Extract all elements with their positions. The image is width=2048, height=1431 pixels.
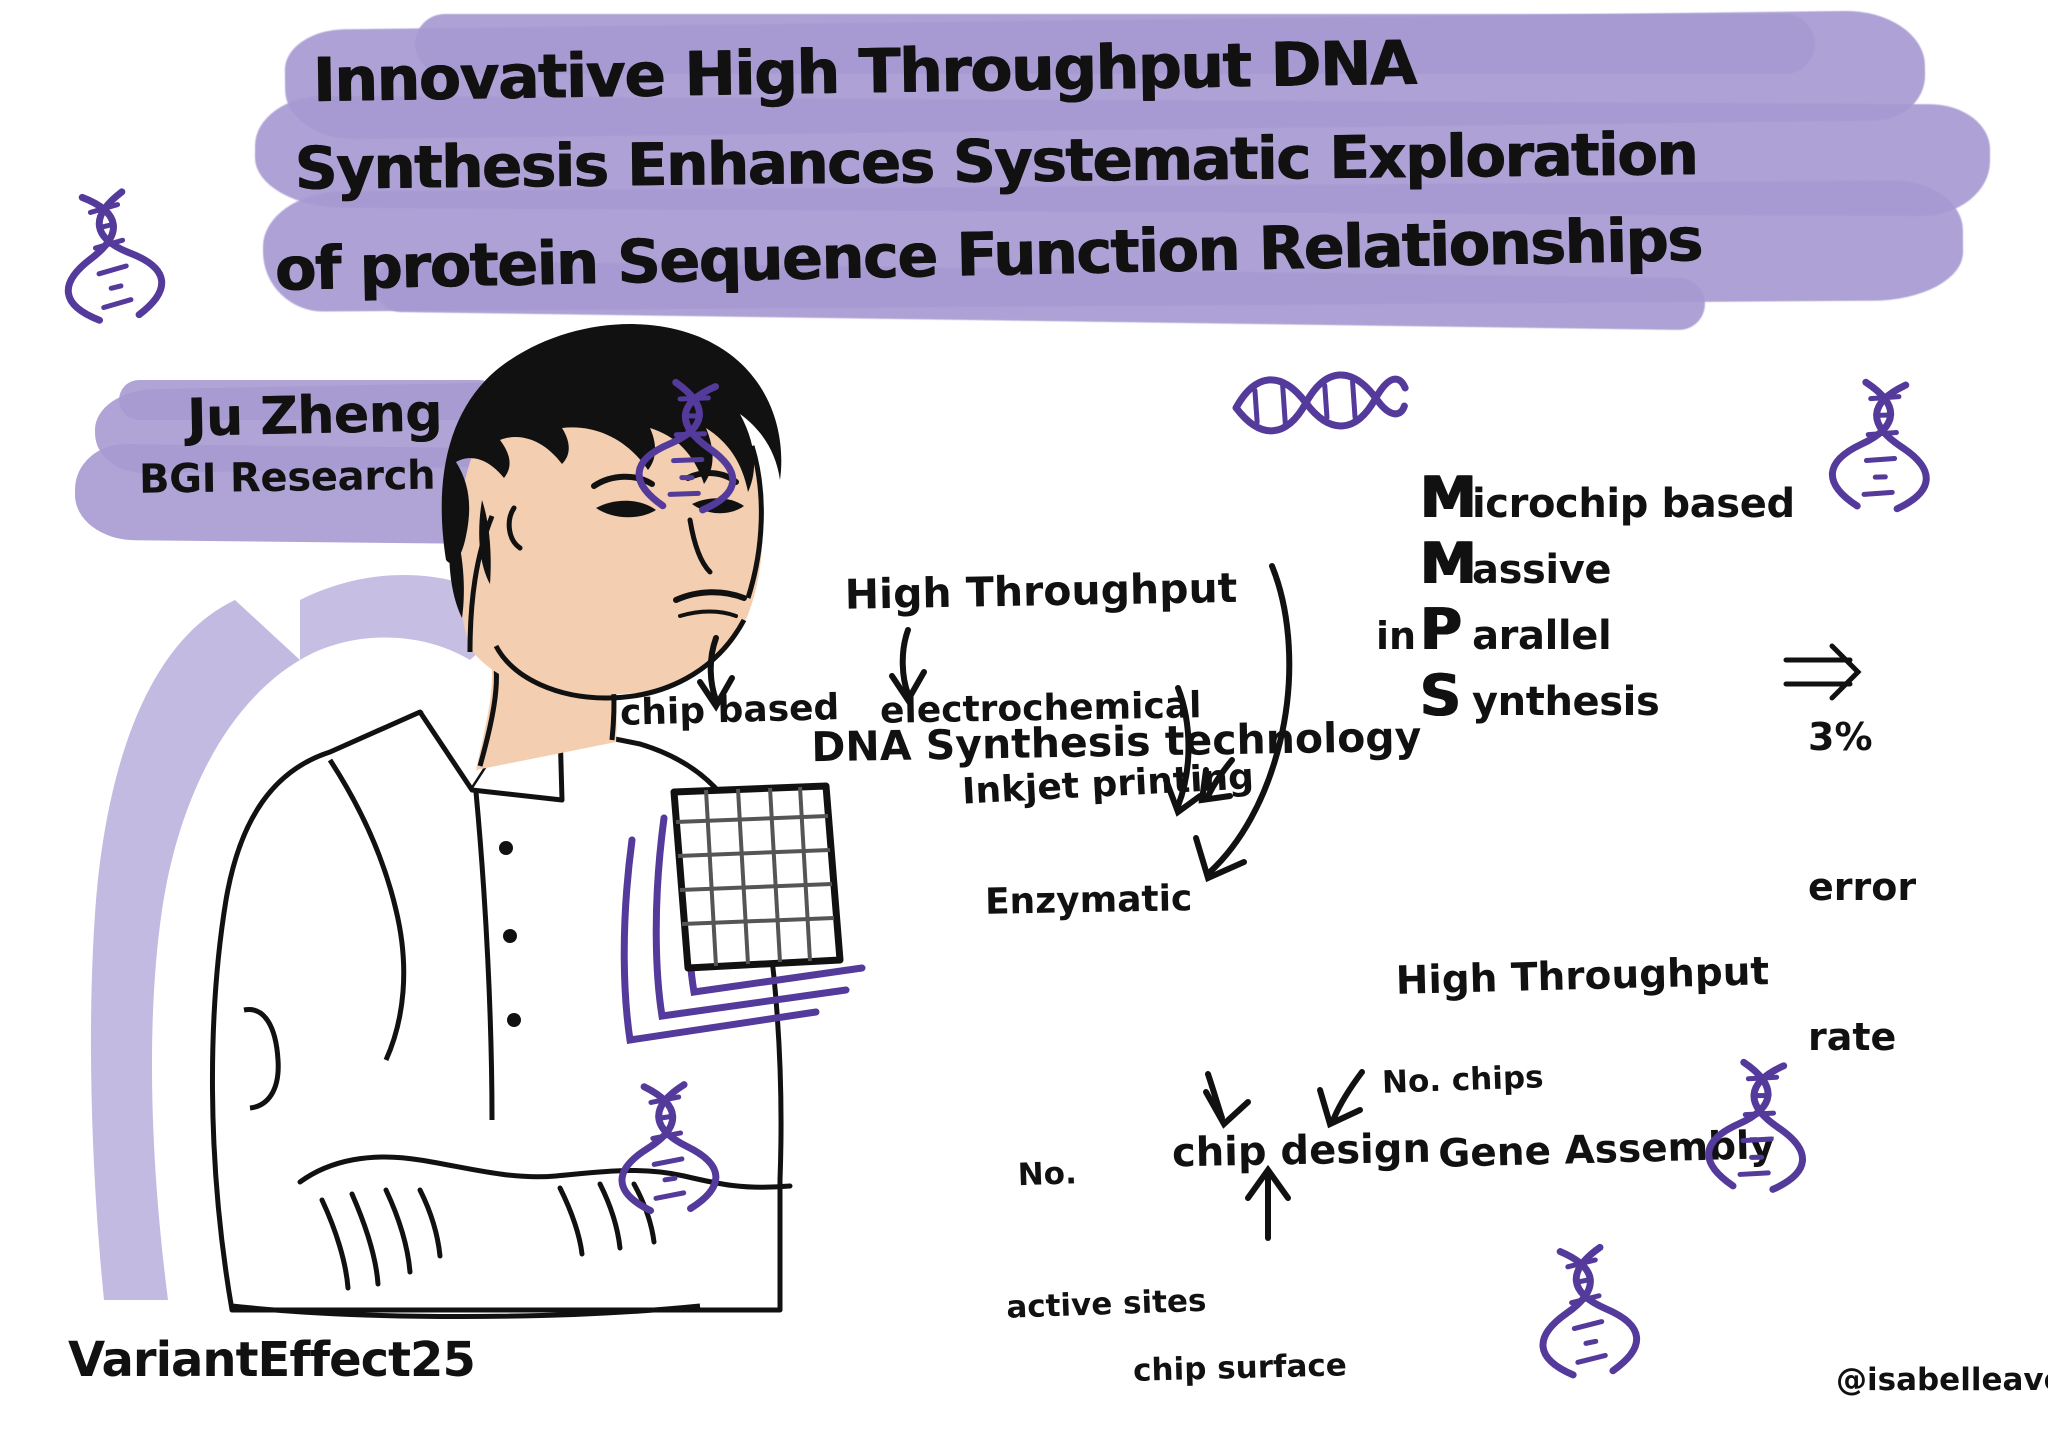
portrait-nose	[690, 520, 710, 572]
author-name: Ju Zheng	[186, 378, 537, 451]
mmps-text-parallel: arallel	[1472, 606, 1611, 666]
dna-helix-center-left	[636, 380, 742, 513]
mmps-capital-m2: M	[1420, 534, 1472, 594]
chip-design-input-no-chips: No. chips	[1381, 1059, 1544, 1101]
error-rate-value: 3%	[1808, 712, 1916, 762]
title-banner: Innovative High Throughput DNA Synthesis…	[255, 14, 2020, 319]
gene-assembly-line-2: Gene Assembly	[1438, 1117, 1776, 1184]
dna-helix-top-right	[1830, 380, 1932, 510]
error-rate-word-rate: rate	[1808, 1012, 1916, 1062]
dna-helix-top-left	[56, 188, 166, 324]
mmps-acronym-list: M icrochip based M assive in P arallel S…	[1420, 468, 1795, 732]
chip-design-input-surface-chemistry: chip surface chemistry	[1130, 1245, 1357, 1431]
mmps-text-synthesis: ynthesis	[1472, 672, 1659, 732]
portrait-shirt	[212, 712, 781, 1310]
portrait-jawline	[496, 620, 744, 698]
portrait-brow-right	[688, 473, 736, 482]
shirt-button-3	[507, 1013, 521, 1027]
mmps-row-parallel: in P arallel	[1376, 600, 1795, 666]
author-banner: Ju Zheng BGI Research	[75, 380, 545, 555]
surface-chemistry-line-1: chip surface	[1133, 1341, 1351, 1395]
page-title: Innovative High Throughput DNA Synthesis…	[295, 22, 1995, 298]
mmps-capital-s: S	[1420, 666, 1472, 726]
mmps-capital-m1: M	[1420, 468, 1472, 528]
author-affiliation: BGI Research	[139, 445, 538, 509]
branch-label-enzymatic: Enzymatic	[985, 878, 1193, 923]
arrow-no-chips-to-chip-design	[1334, 1072, 1362, 1118]
branch-label-electrochemical: electrochemical	[880, 685, 1202, 732]
gene-assembly-line-1: High Throughput	[1395, 943, 1771, 1011]
sketchnote-canvas: Innovative High Throughput DNA Synthesis…	[0, 0, 2048, 1431]
portrait-shadow	[91, 600, 300, 1300]
dna-helix-bottom-left	[617, 1083, 717, 1212]
mmps-text-massive: assive	[1472, 540, 1611, 600]
portrait-brow-left	[594, 477, 652, 486]
shirt-button-2	[503, 929, 517, 943]
branch-label-chip-based: chip based	[620, 687, 840, 734]
mmps-row-synthesis: S ynthesis	[1420, 666, 1795, 732]
portrait-eye-left	[596, 501, 656, 518]
error-rate-word-error: error	[1808, 862, 1916, 912]
mmps-text-microchip: icrochip based	[1472, 474, 1795, 534]
chip-grid-lines	[676, 787, 834, 966]
chip-layer-back-1	[624, 840, 816, 1040]
error-rate-annotation: 3% error rate	[1808, 612, 1916, 1162]
mmps-row-massive: M assive	[1420, 534, 1795, 600]
branch-root-line-1: High Throughput	[844, 561, 1419, 619]
author-block: Ju Zheng BGI Research	[117, 382, 537, 506]
portrait-neck	[476, 636, 617, 770]
mmps-prefix-in: in	[1376, 606, 1416, 666]
shirt-button-1	[499, 841, 513, 855]
branch-root-label: High Throughput DNA Synthesis technology	[807, 465, 1424, 868]
portrait-hands	[300, 1157, 790, 1187]
arrow-active-sites-to-chip-design	[1208, 1074, 1222, 1118]
dna-helix-top-center	[1234, 370, 1407, 433]
chip-design-center-label: chip design	[1172, 1126, 1432, 1177]
portrait-mouth	[676, 592, 744, 600]
mmps-row-microchip: M icrochip based	[1420, 468, 1795, 534]
event-hashtag: VariantEffect25	[68, 1332, 475, 1388]
artist-handle: @isabelleave	[1836, 1362, 2048, 1398]
portrait-eye-right	[692, 498, 744, 513]
mmps-capital-p: P	[1420, 600, 1472, 660]
